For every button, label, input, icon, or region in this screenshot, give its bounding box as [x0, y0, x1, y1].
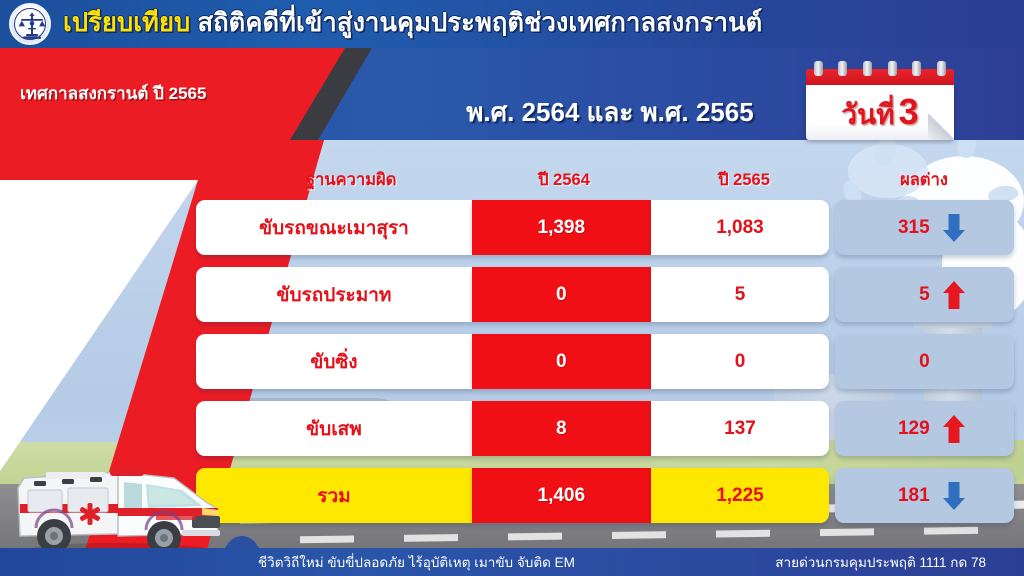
table-row: ขับรถขณะเมาสุรา1,3981,083315: [196, 200, 1014, 255]
cell-year-2565: 5: [651, 267, 830, 322]
difference-value: 181: [884, 485, 930, 507]
statistics-table: ฐานความผิด ปี 2564 ปี 2565 ผลต่าง ขับรถข…: [196, 160, 1014, 535]
cell-difference: 315: [835, 200, 1014, 255]
cell-difference: 129: [835, 401, 1014, 456]
footer-hotline: สายด่วนกรมคุมประพฤติ 1111 กด 78: [775, 551, 986, 573]
cell-offense: รวม: [196, 468, 472, 523]
calendar-day-label: วันที่: [841, 99, 894, 130]
page-title-rest: สถิติคดีที่เข้าสู่งานคุมประพฤติช่วงเทศกา…: [197, 9, 762, 37]
table-body: ขับรถขณะเมาสุรา1,3981,083315ขับรถประมาท0…: [196, 200, 1014, 523]
arrow-down-icon: [942, 213, 966, 243]
table-row: ขับซิ่ง000: [196, 334, 1014, 389]
column-header-year-2565: ปี 2565: [654, 167, 834, 193]
table-row: ขับรถประมาท055: [196, 267, 1014, 322]
cell-year-2564: 1,406: [472, 468, 651, 523]
cell-year-2564: 0: [472, 267, 651, 322]
festival-label: เทศกาลสงกรานต์ ปี 2565: [20, 80, 206, 107]
years-subtitle: พ.ศ. 2564 และ พ.ศ. 2565: [400, 92, 820, 133]
calendar-day-number: 3: [899, 91, 919, 132]
arrow-down-icon: [942, 481, 966, 511]
difference-value: 0: [884, 351, 930, 373]
table-row: ขับเสพ8137129: [196, 401, 1014, 456]
arrow-up-icon: [942, 414, 966, 444]
cell-difference: 5: [835, 267, 1014, 322]
cell-offense: ขับรถขณะเมาสุรา: [196, 200, 472, 255]
difference-value: 129: [884, 418, 930, 440]
difference-value: 5: [884, 284, 930, 306]
calendar-body: วันที่3: [806, 85, 954, 140]
table-row-total: รวม1,4061,225181: [196, 468, 1014, 523]
cell-offense: ขับซิ่ง: [196, 334, 472, 389]
table-header-row: ฐานความผิด ปี 2564 ปี 2565 ผลต่าง: [196, 160, 1014, 200]
infographic-canvas: เปรียบเทียบ สถิติคดีที่เข้าสู่งานคุมประพ…: [0, 0, 1024, 576]
cell-difference: 0: [835, 334, 1014, 389]
cell-year-2565: 0: [651, 334, 830, 389]
page-title: เปรียบเทียบ สถิติคดีที่เข้าสู่งานคุมประพ…: [63, 11, 762, 37]
justice-scales-seal-icon: [9, 3, 51, 45]
arrow-up-icon: [942, 280, 966, 310]
column-header-offense: ฐานความผิด: [196, 167, 474, 193]
page-title-highlight: เปรียบเทียบ: [63, 9, 190, 37]
cell-year-2565: 1,225: [651, 468, 830, 523]
page-header: เปรียบเทียบ สถิติคดีที่เข้าสู่งานคุมประพ…: [0, 0, 1024, 48]
cell-year-2564: 0: [472, 334, 651, 389]
cell-year-2564: 1,398: [472, 200, 651, 255]
cell-difference: 181: [835, 468, 1014, 523]
cell-year-2565: 1,083: [651, 200, 830, 255]
difference-value: 315: [884, 217, 930, 239]
calendar-day-text: วันที่3: [841, 94, 918, 130]
column-header-difference: ผลต่าง: [834, 167, 1014, 193]
cell-offense: ขับรถประมาท: [196, 267, 472, 322]
cell-year-2565: 137: [651, 401, 830, 456]
cell-offense: ขับเสพ: [196, 401, 472, 456]
calendar-day-badge: วันที่3: [806, 66, 954, 140]
cell-year-2564: 8: [472, 401, 651, 456]
column-header-year-2564: ปี 2564: [474, 167, 654, 193]
footer-slogan: ชีวิตวิถีใหม่ ขับขี่ปลอดภัย ไร้อุบัติเหต…: [258, 551, 575, 573]
calendar-rings: [806, 66, 954, 74]
page-footer: ชีวิตวิถีใหม่ ขับขี่ปลอดภัย ไร้อุบัติเหต…: [0, 548, 1024, 576]
